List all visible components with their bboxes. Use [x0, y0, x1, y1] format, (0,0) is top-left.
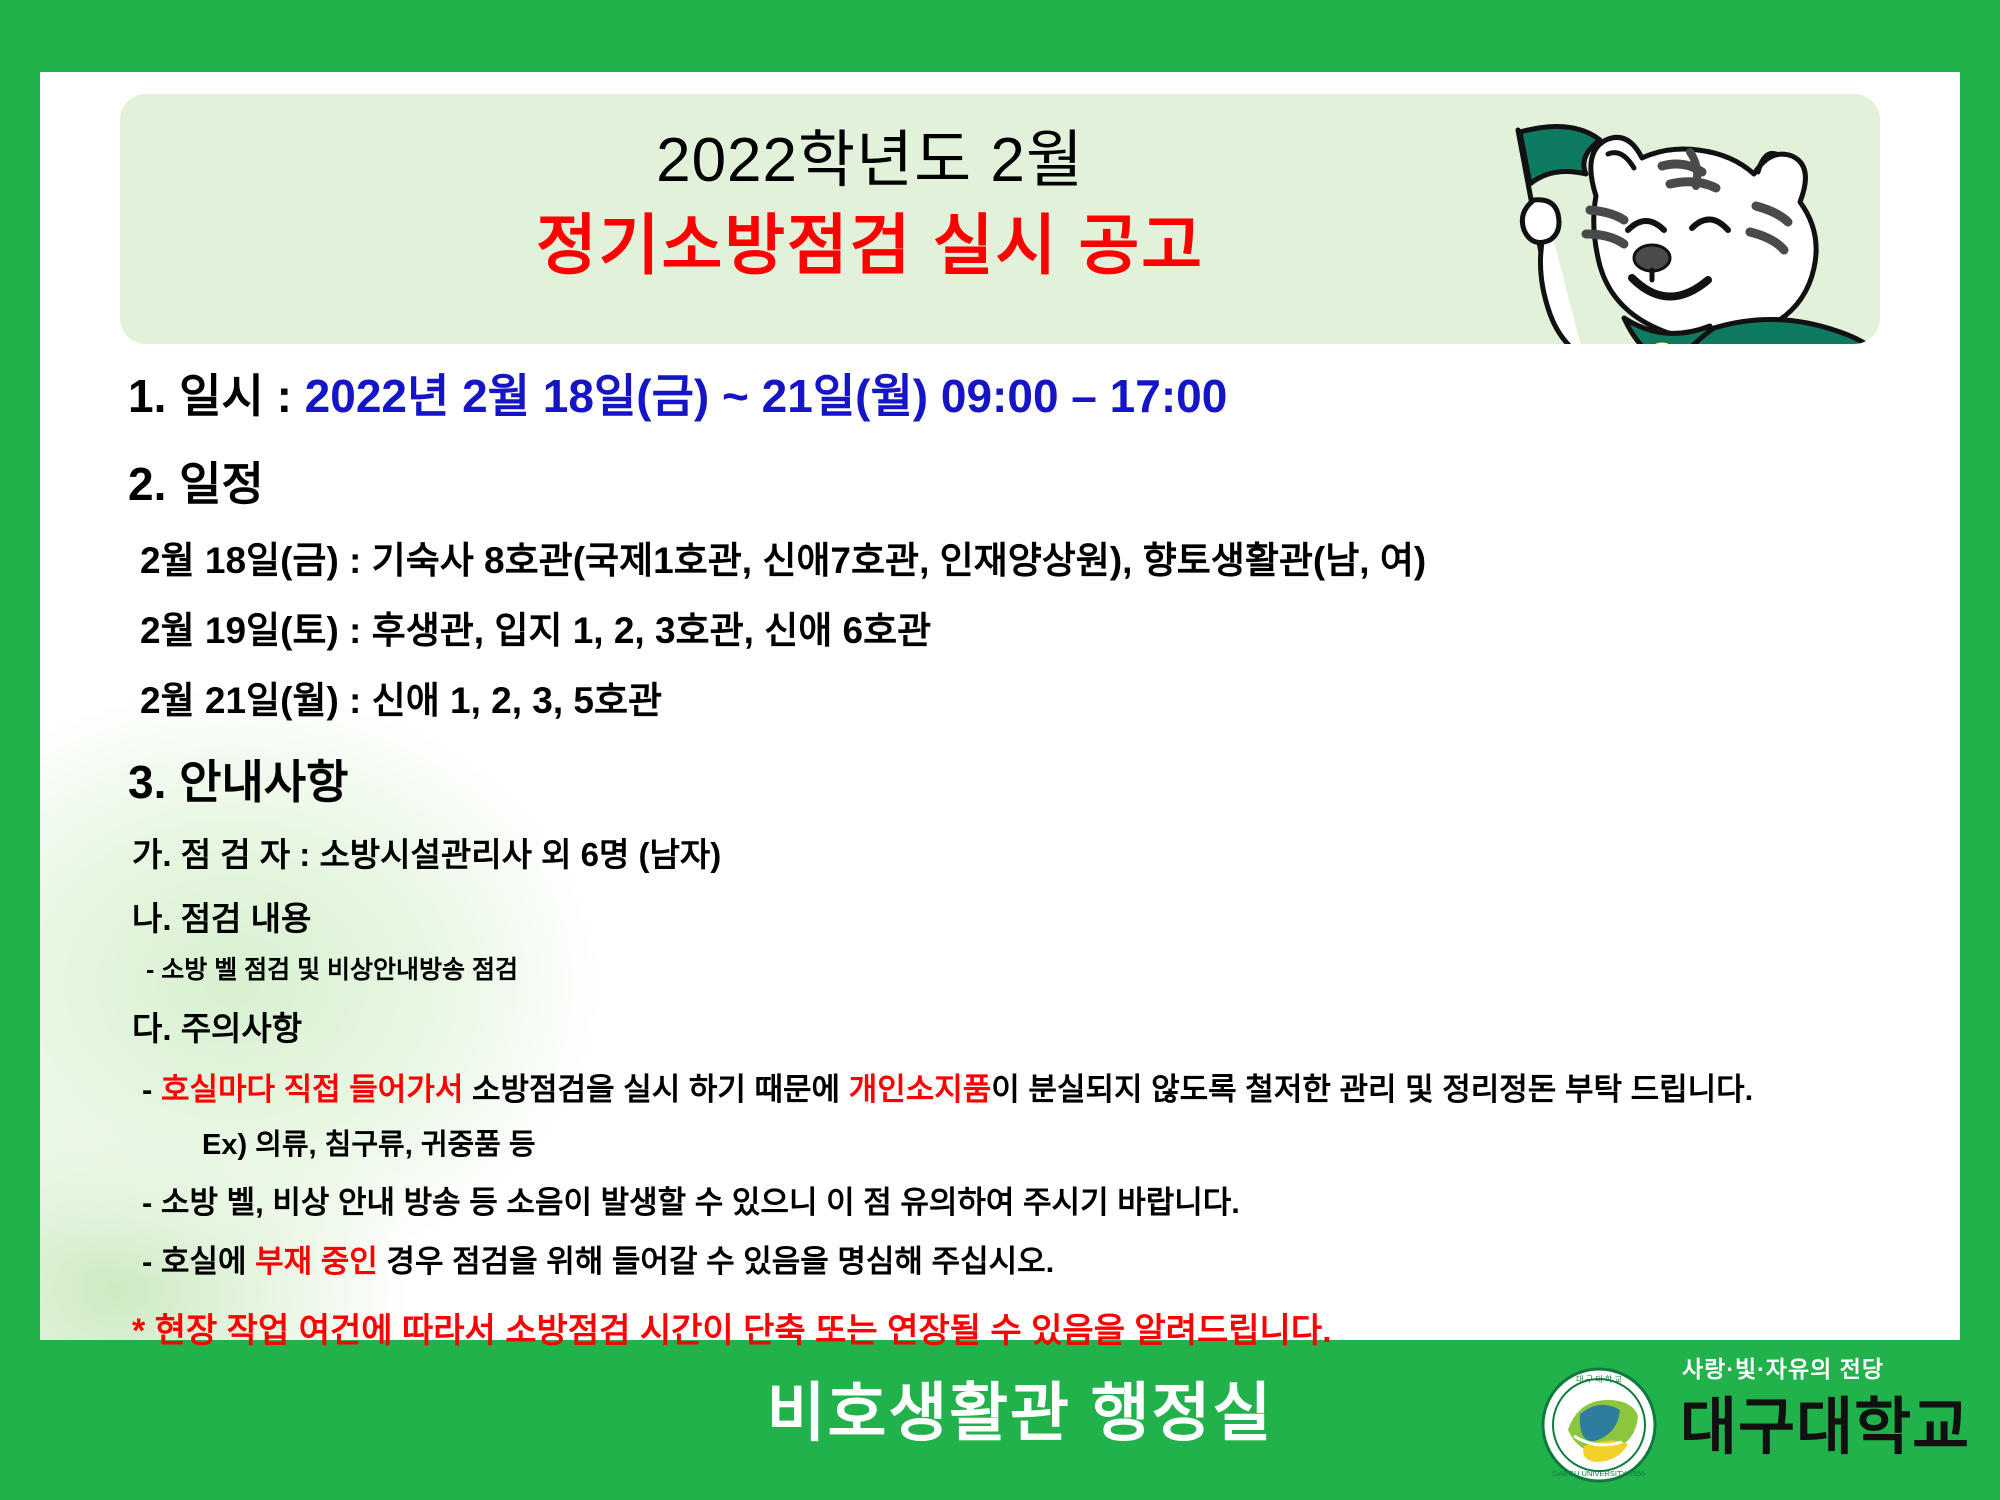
university-brand: 대 구 대 학 교 DAEGU UNIVERSITY 1956 사랑·빛·자유의… [1532, 1348, 1982, 1488]
office-name: 비호생활관 행정실 [640, 1362, 1400, 1454]
title-text-group: 2022학년도 2월 정기소방점검 실시 공고 [120, 122, 1620, 286]
announcement-body: 1. 일시 : 2022년 2월 18일(금) ~ 21일(월) 09:00 –… [40, 352, 1960, 1352]
caution-red-phrase-2: 개인소지품 [849, 1072, 992, 1107]
title-band: 2022학년도 2월 정기소방점검 실시 공고 [120, 94, 1880, 344]
section-1-datetime: 1. 일시 : 2022년 2월 18일(금) ~ 21일(월) 09:00 –… [128, 360, 1916, 426]
schedule-row: 2월 19일(토) : 후생관, 입지 1, 2, 3호관, 신애 6호관 [140, 600, 1916, 654]
announcement-poster: 2022학년도 2월 정기소방점검 실시 공고 [0, 0, 2000, 1500]
caution-item-3-tail: 경우 점검을 위해 들어갈 수 있음을 명심해 주십시오. [378, 1244, 1054, 1279]
svg-text:DAEGU UNIVERSITY 1956: DAEGU UNIVERSITY 1956 [1553, 1469, 1645, 1478]
section-1-value: 2022년 2월 18일(금) ~ 21일(월) 09:00 – 17:00 [305, 370, 1228, 422]
caution-dash: - [142, 1072, 161, 1107]
page-title-year: 2022학년도 2월 [120, 122, 1620, 200]
caution-tail-text: 이 분실되지 않도록 철저한 관리 및 정리정돈 부탁 드립니다. [991, 1072, 1753, 1107]
content-card: 2022학년도 2월 정기소방점검 실시 공고 [40, 72, 1960, 1340]
section-3-heading: 3. 안내사항 [128, 746, 1916, 812]
inspection-content-heading: 나. 점검 내용 [132, 892, 1916, 940]
caution-example: Ex) 의류, 침구류, 귀중품 등 [202, 1121, 1916, 1163]
university-seal-icon: 대 구 대 학 교 DAEGU UNIVERSITY 1956 [1540, 1366, 1658, 1484]
caution-red-phrase-3: 부재 중인 [255, 1244, 378, 1279]
schedule-row: 2월 18일(금) : 기숙사 8호관(국제1호관, 신애7호관, 인재양상원)… [140, 530, 1916, 584]
caution-item-2: - 소방 벨, 비상 안내 방송 등 소음이 발생할 수 있으니 이 점 유의하… [142, 1177, 1916, 1222]
inspection-content-item: - 소방 벨 점검 및 비상안내방송 점검 [146, 950, 1916, 986]
caution-item-3: - 호실에 부재 중인 경우 점검을 위해 들어갈 수 있음을 명심해 주십시오… [142, 1236, 1916, 1281]
caution-mid-text: 소방점검을 실시 하기 때문에 [463, 1072, 848, 1107]
inspector-info: 가. 점 검 자 : 소방시설관리사 외 6명 (남자) [132, 828, 1916, 876]
tiger-mascot-icon [1456, 100, 1880, 344]
page-title-main: 정기소방점검 실시 공고 [120, 204, 1620, 287]
svg-text:대 구 대 학 교: 대 구 대 학 교 [1576, 1374, 1622, 1384]
caution-heading: 다. 주의사항 [132, 1002, 1916, 1050]
brand-name: 대구대학교 [1680, 1376, 1970, 1466]
caution-red-phrase-1: 호실마다 직접 들어가서 [161, 1072, 463, 1107]
section-1-label: 1. 일시 : [128, 370, 305, 422]
section-2-heading: 2. 일정 [128, 448, 1916, 514]
caution-item-3-lead: - 호실에 [142, 1244, 255, 1279]
caution-item-1: - 호실마다 직접 들어가서 소방점검을 실시 하기 때문에 개인소지품이 분실… [142, 1064, 1916, 1109]
schedule-row: 2월 21일(월) : 신애 1, 2, 3, 5호관 [140, 670, 1916, 724]
poster-footer: 비호생활관 행정실 대 구 대 학 교 DAEGU UNIVERSITY 195… [0, 1340, 2000, 1500]
